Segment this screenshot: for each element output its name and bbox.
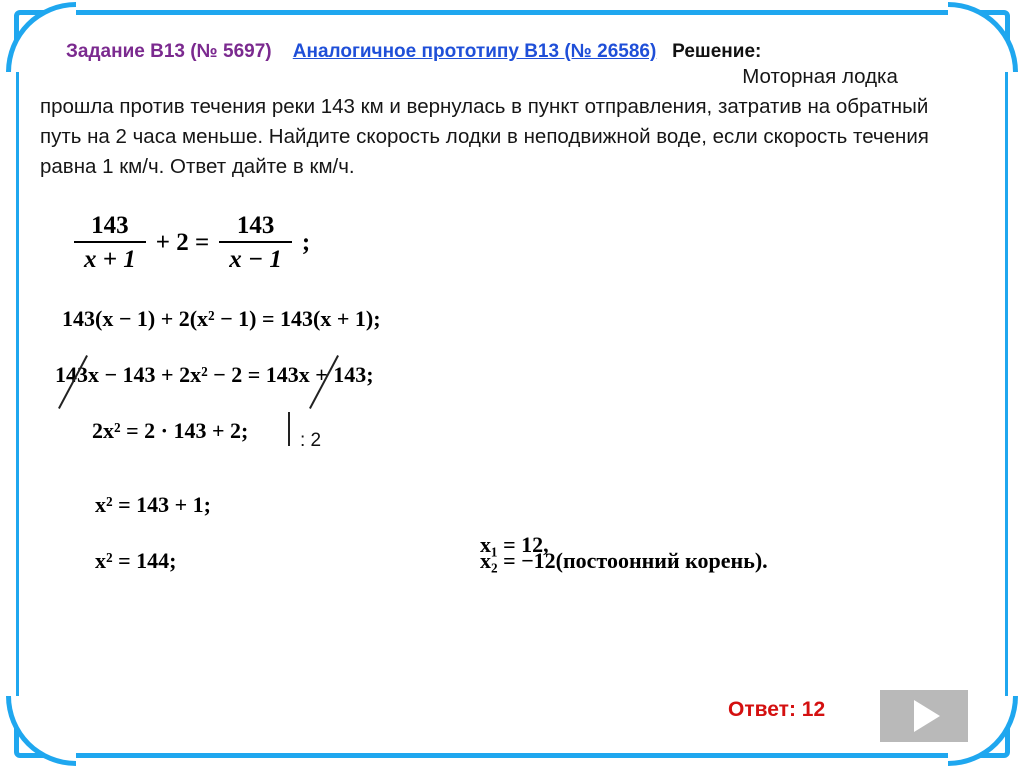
equation-terminator: ; xyxy=(302,229,310,257)
fraction-right-numerator: 143 xyxy=(219,212,292,243)
equation-step-5: x² = 143 + 1; xyxy=(95,492,211,518)
root-two: x₂ = −12(постоонний корень). xyxy=(480,548,768,574)
prototype-link[interactable]: Аналогичное прототипу B13 (№ 26586) xyxy=(293,41,657,62)
solution-label: Решение: xyxy=(672,41,761,62)
answer-text: Ответ: 12 xyxy=(728,698,825,722)
frame-corner-bottom-left-icon xyxy=(6,696,76,766)
fraction-left-numerator: 143 xyxy=(74,212,146,243)
play-triangle-icon xyxy=(914,700,940,732)
divide-note: : 2 xyxy=(300,430,321,452)
slide-canvas: Задание B13 (№ 5697) Аналогичное прототи… xyxy=(0,0,1024,768)
fraction-right: 143 x − 1 xyxy=(219,212,292,274)
equation-fraction: 143 x + 1 + 2 = 143 x − 1 ; xyxy=(70,212,316,274)
equation-step-2: 143(x − 1) + 2(x² − 1) = 143(x + 1); xyxy=(62,306,381,332)
frame-cover-right xyxy=(1008,44,1024,724)
task-label: Задание B13 (№ 5697) xyxy=(66,41,272,62)
frame-cover-left xyxy=(0,44,16,724)
header-line: Задание B13 (№ 5697) Аналогичное прототи… xyxy=(66,40,966,64)
fraction-left: 143 x + 1 xyxy=(74,212,146,274)
frame-cover-top xyxy=(40,0,984,10)
problem-statement: Задание B13 (№ 5697) Аналогичное прототи… xyxy=(40,62,970,182)
fraction-right-denominator: x − 1 xyxy=(219,243,292,274)
equation-operator: + 2 = xyxy=(156,229,210,257)
frame-cover-bottom xyxy=(40,758,984,768)
equation-step-6: x² = 144; xyxy=(95,548,176,574)
problem-statement-text: Моторная лодка прошла против течения рек… xyxy=(40,65,929,178)
fraction-left-denominator: x + 1 xyxy=(74,243,146,274)
divide-note-separator xyxy=(288,412,290,446)
play-button[interactable] xyxy=(880,690,968,742)
equation-step-4: 2x² = 2 · 143 + 2; xyxy=(92,418,248,444)
